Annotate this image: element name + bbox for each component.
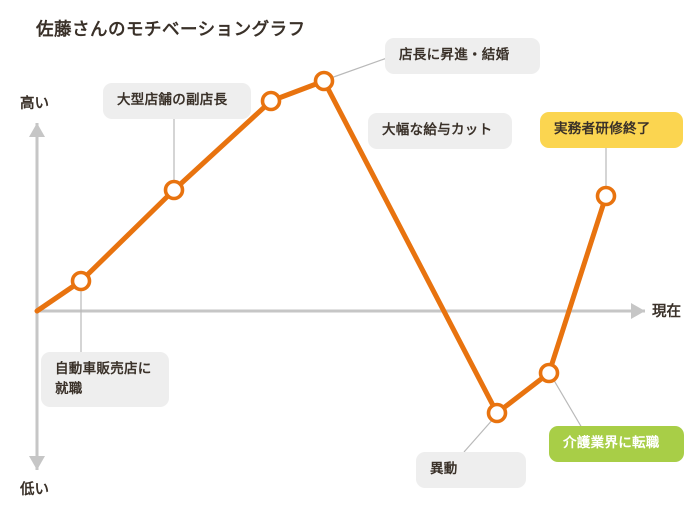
y-axis-arrow-down-icon bbox=[29, 456, 45, 470]
y-axis-high-label: 高い bbox=[20, 92, 49, 113]
y-axis-arrow-icon bbox=[29, 123, 45, 137]
y-axis-low-label: 低い bbox=[20, 478, 49, 499]
x-axis-arrow-icon bbox=[631, 303, 645, 319]
annotation-label-promotion[interactable]: 店長に昇進・結婚 bbox=[385, 38, 540, 74]
data-point-p3[interactable] bbox=[263, 93, 280, 110]
data-point-p1[interactable] bbox=[73, 273, 90, 290]
data-point-p7[interactable] bbox=[598, 188, 615, 205]
x-axis-now-label: 現在 bbox=[652, 300, 681, 321]
annotation-label-job-start[interactable]: 自動車販売店に 就職 bbox=[41, 352, 169, 407]
annotation-label-training-done[interactable]: 実務者研修終了 bbox=[540, 112, 683, 148]
connector-career-change bbox=[552, 377, 582, 428]
connector-transfer bbox=[464, 418, 494, 452]
motivation-graph-canvas: 佐藤さんのモチベーショングラフ 高い 低い 現在 自動車販売店に 就職大型店舗の… bbox=[0, 0, 700, 525]
annotation-label-transfer[interactable]: 異動 bbox=[416, 452, 526, 488]
connector-promotion bbox=[328, 58, 387, 79]
annotation-label-career-change[interactable]: 介護業界に転職 bbox=[549, 426, 684, 462]
data-point-p4[interactable] bbox=[316, 73, 333, 90]
data-point-p5[interactable] bbox=[489, 405, 506, 422]
annotation-label-pay-cut[interactable]: 大幅な給与カット bbox=[368, 113, 512, 149]
data-point-p2[interactable] bbox=[166, 182, 183, 199]
axes bbox=[29, 123, 645, 470]
data-point-p6[interactable] bbox=[541, 365, 558, 382]
annotation-label-deputy-manager[interactable]: 大型店舗の副店長 bbox=[103, 83, 251, 119]
